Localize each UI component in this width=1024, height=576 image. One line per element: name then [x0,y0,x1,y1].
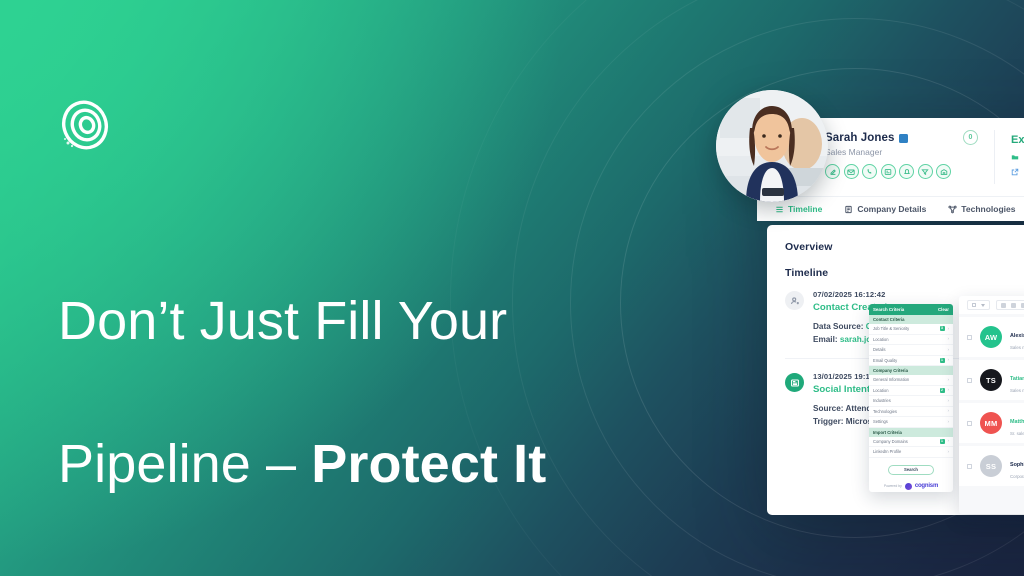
envelope-icon[interactable] [844,164,859,179]
criteria-row[interactable]: Job Title & Seniority3› [869,324,953,335]
avatar: MM [980,412,1002,434]
criteria-label: General Information [873,377,909,382]
chevron-right-icon: › [948,337,950,342]
profile-info: Sarah Jones Sales Manager [825,132,951,179]
criteria-label: Location [873,337,888,342]
timeline-detail-label: Email: [813,335,840,344]
criteria-count: 1 [940,358,945,363]
criteria-row[interactable]: Details› [869,345,953,356]
criteria-row[interactable]: Location› [869,335,953,346]
avatar: SS [980,455,1002,477]
page-title: Don’t Just Fill Your Pipeline – Protect … [58,214,678,573]
criteria-row[interactable]: Industries› [869,396,953,407]
criteria-count: 2 [940,388,945,393]
list-icon [775,205,784,214]
company-score-badge: 0 [963,130,978,145]
chevron-right-icon: › [948,327,950,332]
chevron-right-icon: › [948,439,950,444]
search-criteria-panel: Search Criteria Clear Contact Criteria J… [869,304,953,492]
powered-by-footer: Powered by cognism [869,483,953,490]
row-checkbox[interactable] [967,464,972,469]
criteria-row[interactable]: Settings› [869,417,953,428]
criteria-label: Details [873,347,886,352]
result-name: Sophia Sol [1010,462,1024,468]
row-checkbox[interactable] [967,378,972,383]
chevron-right-icon: › [948,420,950,425]
criteria-label: LinkedIn Profile [873,449,901,454]
criteria-label: Industries [873,398,891,403]
chevron-right-icon: › [948,399,950,404]
save-icon [1011,303,1016,308]
chevron-right-icon: › [948,450,950,455]
edit-icon[interactable] [825,164,840,179]
criteria-group-title: Import Criteria [869,428,953,437]
criteria-label: Technologies [873,409,897,414]
headline-line-2: Pipeline – Protect It [58,429,678,501]
network-icon [948,205,957,214]
timeline-heading: Timeline [785,267,1024,279]
criteria-label: Job Title & Seniority [873,326,909,331]
criteria-row[interactable]: Technologies› [869,407,953,418]
headline-light: Pipeline – [58,434,311,494]
chevron-right-icon: › [948,378,950,383]
criteria-label: Company Domains [873,439,908,444]
tab-technologies-label: Technologies [961,204,1015,214]
search-criteria-header: Search Criteria Clear [869,304,953,315]
folder-icon [1011,153,1019,161]
result-row[interactable]: SS Sophia SolCorporate s [959,446,1024,486]
company-industry-row: Computer [1011,152,1024,161]
result-name: Tatiana Sa [1010,376,1024,382]
row-checkbox[interactable] [967,421,972,426]
linkedin-icon[interactable] [899,134,908,143]
news-icon [785,373,804,392]
vendor-name: cognism [915,483,938,489]
external-link-icon [1011,168,1019,176]
tab-bar: Timeline Company Details Technologies [757,196,1024,221]
criteria-label: Email Quality [873,358,897,363]
contact-role: Sales Manager [825,147,951,157]
results-toolbar [959,296,1024,314]
criteria-count: 3 [940,326,945,331]
chevron-right-icon: › [948,348,950,353]
result-name: Matthew M [1010,419,1024,425]
hero-banner: Don’t Just Fill Your Pipeline – Protect … [0,0,1024,576]
timeline-detail-label: Data Source: [813,322,866,331]
tab-technologies[interactable]: Technologies [948,204,1015,214]
search-results-panel: AW Alexis WagSales mana TS Tatiana SaSal… [959,296,1024,514]
contact-add-icon [785,291,804,310]
tab-company-details-label: Company Details [857,204,926,214]
tab-company-details[interactable]: Company Details [844,204,926,214]
criteria-row[interactable]: Email Quality1› [869,356,953,367]
tab-timeline[interactable]: Timeline [775,204,822,214]
tab-timeline-label: Timeline [788,204,822,214]
result-row[interactable]: MM Matthew MSr. sales co / Enterprise / … [959,403,1024,443]
powered-by-label: Powered by [884,484,902,488]
bell-icon[interactable] [899,164,914,179]
result-subtitle: Sales mana / Spain, India [1010,388,1024,393]
spiral-target-logo [58,98,114,154]
result-subtitle: Sales mana [1010,345,1024,350]
criteria-row[interactable]: Company Domains1› [869,437,953,448]
company-website-row[interactable]: https://nets [1011,167,1024,176]
checkbox-icon [972,303,976,307]
result-name: Alexis Wag [1010,333,1024,339]
chevron-down-icon [981,304,985,307]
results-actions-group[interactable] [996,300,1024,310]
cognism-logo-icon [905,483,912,490]
contact-name: Sarah Jones [825,132,895,144]
criteria-count: 1 [940,439,945,444]
result-row[interactable]: AW Alexis WagSales mana [959,317,1024,357]
header-divider [994,130,995,184]
contact-name-row: Sarah Jones [825,132,951,144]
criteria-label: Location [873,388,888,393]
chevron-right-icon: › [948,409,950,414]
overview-heading: Overview [785,241,1024,253]
company-name[interactable]: Example Co [1011,134,1024,146]
row-checkbox[interactable] [967,335,972,340]
phone-icon[interactable] [862,164,877,179]
search-criteria-clear[interactable]: Clear [938,307,949,312]
avatar: TS [980,369,1002,391]
filter-icon[interactable] [918,164,933,179]
criteria-group-title: Company Criteria [869,366,953,375]
avatar: AW [980,326,1002,348]
card-icon[interactable] [881,164,896,179]
result-subtitle: Corporate s [1010,474,1024,479]
building-icon[interactable] [936,164,951,179]
building-icon [844,205,853,214]
criteria-row[interactable]: LinkedIn Profile› [869,447,953,458]
headline-line-1: Don’t Just Fill Your [58,286,678,358]
export-icon [1001,303,1006,308]
headline-bold: Protect It [311,434,546,494]
search-criteria-title: Search Criteria [873,307,904,312]
select-all-control[interactable] [967,300,990,310]
contact-action-icons [825,164,951,179]
result-row[interactable]: TS Tatiana SaSales mana / Spain, India [959,360,1024,400]
criteria-label: Settings [873,419,888,424]
result-subtitle: Sr. sales co / Enterprise / United Stat [1010,431,1024,436]
criteria-row[interactable]: General Information› [869,375,953,386]
avatar-photo [716,90,828,202]
criteria-group-title: Contact Criteria [869,315,953,324]
search-button[interactable]: Search [888,465,934,475]
timeline-timestamp: 07/02/2025 16:12:42 [813,290,898,299]
chevron-right-icon: › [948,358,950,363]
chevron-right-icon: › [948,388,950,393]
company-info: Example Co Computer https://nets [1011,134,1024,176]
criteria-row[interactable]: Location2› [869,386,953,397]
